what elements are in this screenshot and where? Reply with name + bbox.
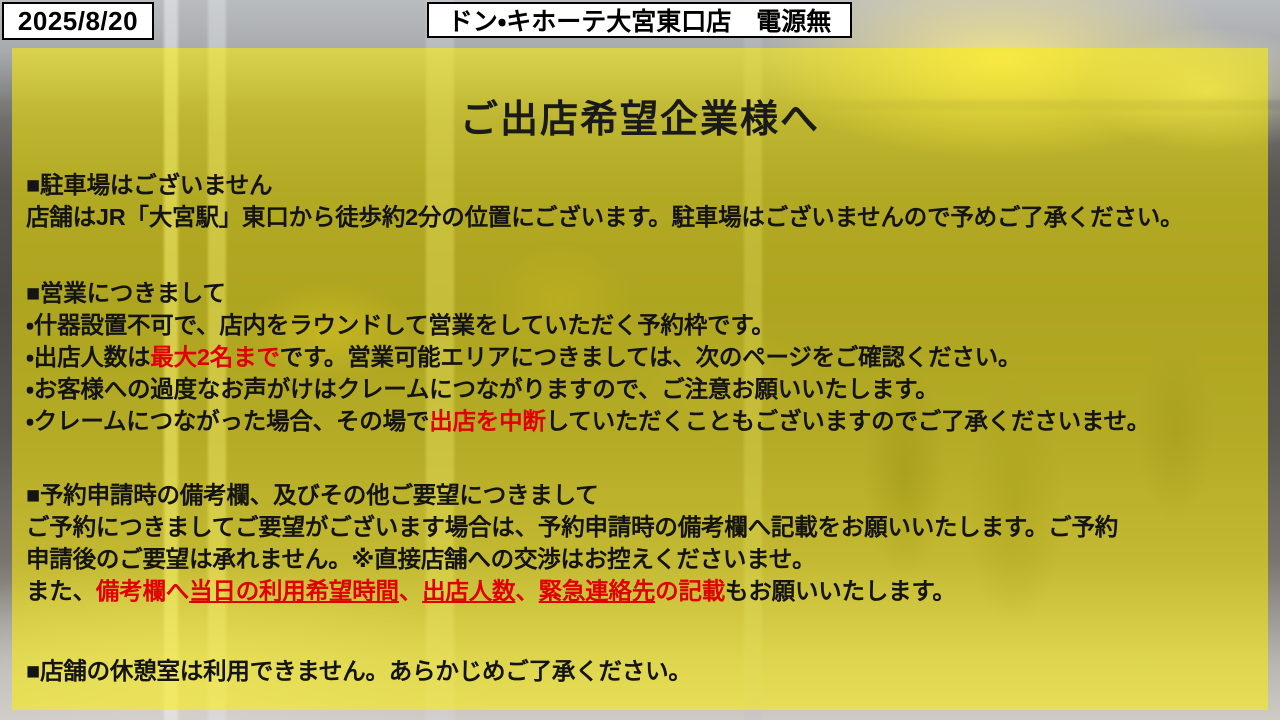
remarks-line-3-text-b: もお願いいたします。	[725, 578, 956, 604]
remarks-line-3-text-a: また、	[26, 578, 96, 604]
page-title: ご出店希望企業様へ	[26, 88, 1254, 143]
slide-stage: 2025/8/20 ドン・キホーテ大宮東口店 電源無 ご出店希望企業様へ ■駐車…	[0, 0, 1280, 720]
section-business-line-4: ・クレームにつながった場合、その場で出店を中断していただくこともございますのでご…	[26, 405, 1254, 437]
section-parking: ■駐車場はございません 店舗はJR「大宮駅」東口から徒歩約2分の位置にございます…	[26, 169, 1254, 233]
section-business: ■営業につきまして ・什器設置不可で、店内をラウンドして営業をしていただく予約枠…	[26, 277, 1254, 437]
remarks-line-3-underline-2: 出店人数	[422, 578, 515, 604]
section-business-heading: ■営業につきまして	[26, 277, 1254, 309]
business-line-2-text-a: ・出店人数は	[26, 344, 150, 370]
section-remarks-line-2: 申請後のご要望は承れません。※直接店舗への交渉はお控えくださいませ。	[26, 543, 1254, 575]
section-breakroom: ■店舗の休憩室は利用できません。あらかじめご了承ください。	[26, 655, 1254, 687]
business-line-2-text-b: です。営業可能エリアにつきましては、次のページをご確認ください。	[280, 344, 1022, 370]
date-badge: 2025/8/20	[2, 2, 154, 40]
business-line-4-text-b: していただくこともございますのでご了承くださいませ。	[546, 408, 1150, 434]
store-title-bar: ドン・キホーテ大宮東口店 電源無	[427, 2, 852, 38]
remarks-line-3-sep-1: 、	[399, 578, 422, 604]
remarks-line-3-emphasis-2: の記載	[655, 578, 725, 604]
section-remarks-line-3: また、備考欄へ当日の利用希望時間、出店人数、緊急連絡先の記載もお願いいたします。	[26, 575, 1254, 607]
section-remarks-line-1: ご予約につきましてご要望がございます場合は、予約申請時の備考欄へ記載をお願いいた…	[26, 511, 1254, 543]
business-line-4-emphasis: 出店を中断	[429, 408, 546, 434]
remarks-line-3-underline-3: 緊急連絡先	[539, 578, 656, 604]
business-line-4-text-a: ・クレームにつながった場合、その場で	[26, 408, 429, 434]
slide-content: ご出店希望企業様へ ■駐車場はございません 店舗はJR「大宮駅」東口から徒歩約2…	[0, 48, 1280, 720]
section-parking-heading: ■駐車場はございません	[26, 169, 1254, 201]
section-remarks: ■予約申請時の備考欄、及びその他ご要望につきまして ご予約につきましてご要望がご…	[26, 479, 1254, 607]
section-breakroom-heading: ■店舗の休憩室は利用できません。あらかじめご了承ください。	[26, 655, 1254, 687]
business-line-2-emphasis: 最大2名まで	[150, 344, 279, 370]
section-remarks-heading: ■予約申請時の備考欄、及びその他ご要望につきまして	[26, 479, 1254, 511]
remarks-line-3-emphasis-1: 備考欄へ	[96, 578, 189, 604]
section-parking-line-1: 店舗はJR「大宮駅」東口から徒歩約2分の位置にございます。駐車場はございませんの…	[26, 201, 1254, 233]
section-business-line-2: ・出店人数は最大2名までです。営業可能エリアにつきましては、次のページをご確認く…	[26, 341, 1254, 373]
remarks-line-3-underline-1: 当日の利用希望時間	[189, 578, 399, 604]
remarks-line-3-sep-2: 、	[515, 578, 538, 604]
section-business-line-3: ・お客様への過度なお声がけはクレームにつながりますので、ご注意お願いいたします。	[26, 373, 1254, 405]
section-business-line-1: ・什器設置不可で、店内をラウンドして営業をしていただく予約枠です。	[26, 309, 1254, 341]
